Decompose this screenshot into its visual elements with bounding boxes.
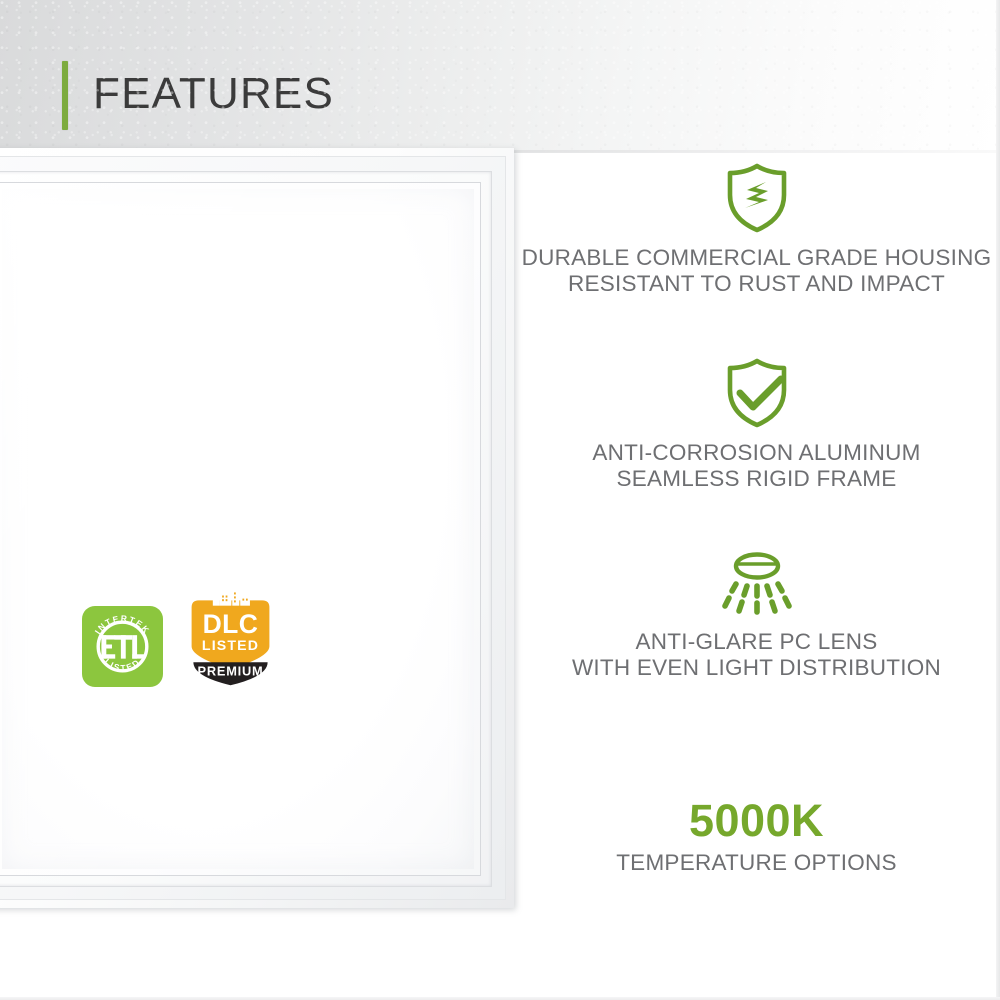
feature-item: ANTI-CORROSION ALUMINUM SEAMLESS RIGID F… [513, 357, 1000, 492]
feature-item: DURABLE COMMERCIAL GRADE HOUSING RESISTA… [513, 162, 1000, 297]
feature-text: ANTI-GLARE PC LENS WITH EVEN LIGHT DISTR… [572, 629, 941, 681]
light-rays-icon [718, 550, 796, 618]
dlc-primary-text: DLC [203, 609, 259, 639]
title-accent-bar [62, 61, 68, 130]
panel-diffuser-lens [2, 189, 474, 869]
feature-item: ANTI-GLARE PC LENS WITH EVEN LIGHT DISTR… [513, 550, 1000, 681]
feature-text: DURABLE COMMERCIAL GRADE HOUSING RESISTA… [522, 245, 992, 297]
color-temperature-block: 5000K TEMPERATURE OPTIONS [513, 795, 1000, 876]
feature-text: ANTI-CORROSION ALUMINUM SEAMLESS RIGID F… [592, 440, 920, 492]
dlc-secondary-text: LISTED [202, 637, 259, 653]
shield-check-icon [723, 357, 791, 429]
product-feature-graphic: FEATURES [0, 0, 1000, 1000]
certification-badges: INTERTEK LISTED [82, 588, 275, 687]
shield-lightning-icon [723, 162, 791, 234]
led-panel-product-image [0, 148, 514, 908]
page-title: FEATURES [93, 65, 334, 123]
color-temperature-value: 5000K [689, 795, 824, 847]
color-temperature-label: TEMPERATURE OPTIONS [616, 850, 897, 876]
canvas-right-edge [996, 0, 1000, 1000]
etl-intertek-listed-badge: INTERTEK LISTED [82, 606, 163, 687]
dlc-listed-premium-badge: DLC LISTED PREMIUM [186, 588, 275, 687]
header-band: FEATURES [0, 0, 1000, 152]
dlc-banner-text: PREMIUM [198, 664, 264, 679]
